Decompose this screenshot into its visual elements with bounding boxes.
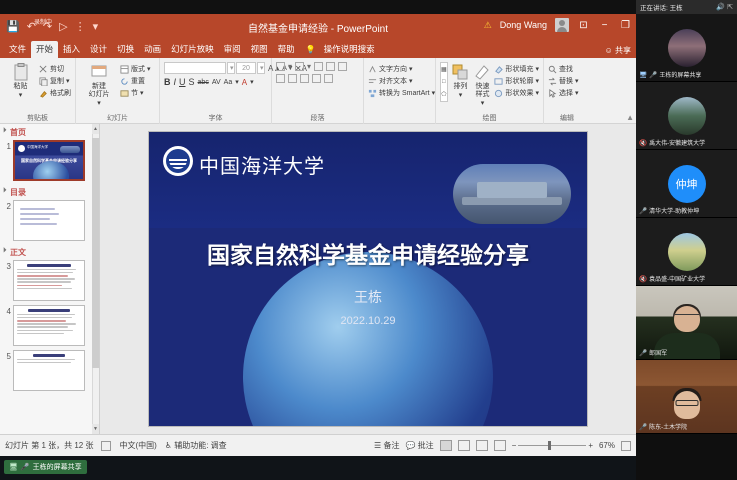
taskbar-share-label: 王栋的屏幕共享 — [33, 462, 82, 472]
text-direction-button[interactable]: 文字方向▾ — [368, 64, 435, 74]
accessibility-text: 辅助功能: 调查 — [174, 441, 226, 450]
thumbnail-number-2: 2 — [2, 200, 11, 211]
mic-muted-icon-6: 🎤 — [639, 423, 647, 431]
thumb-campus-photo — [60, 146, 80, 153]
paste-dropdown-icon[interactable]: ▾ — [19, 92, 23, 100]
increase-indent-icon[interactable] — [326, 62, 335, 71]
thumbnail-scrollbar[interactable]: ▲ ▼ — [92, 124, 99, 434]
restore-button[interactable]: ❐ — [619, 20, 632, 31]
mic-muted-icon-5: 🎤 — [639, 349, 647, 357]
thumbnail-item-3[interactable]: 3 — [0, 259, 99, 304]
video-tile-1[interactable]: 🖥 🎤 王栋的屏幕共享 — [636, 14, 737, 82]
participant-name-row-3: 🎤 清华大学-助教仲坤 — [639, 206, 699, 215]
collapse-ribbon-icon[interactable]: ▲ — [626, 113, 634, 122]
align-text-button[interactable]: 对齐文本▾ — [368, 76, 435, 86]
font-color-dropdown-icon[interactable]: ▾ — [250, 78, 254, 86]
normal-view-button[interactable] — [440, 440, 452, 451]
font-color-button[interactable]: A — [242, 78, 247, 87]
thumb-logo-icon — [18, 145, 25, 152]
collapse-panel-icon[interactable]: ⇱ — [727, 3, 733, 11]
new-slide-label: 新建 幻灯片 — [89, 83, 110, 99]
meeting-top-strip — [0, 0, 737, 14]
mic-muted-icon-4: 🔇 — [639, 275, 647, 283]
thumbnail-number-3: 3 — [2, 260, 11, 271]
speaking-indicator-bar: 正在讲话: 王栋 🔊 ⇱ — [636, 0, 737, 14]
zoom-level-label[interactable]: 67% — [599, 441, 615, 450]
slide-date[interactable]: 2022.10.29 — [149, 315, 587, 327]
tab-file[interactable]: 文件 — [4, 41, 31, 58]
group-font: ▾ 20 ▾ A▲ A▼ ✕A B I U S abc AV Aa — [160, 58, 272, 124]
video-tile-5[interactable]: 🎤 郎国军 — [636, 286, 737, 360]
group-slides: 新建 幻灯片 ▾ 版式 ▾ 重置 — [76, 58, 160, 124]
thumbnail-number-4: 4 — [2, 305, 11, 316]
scrollbar-thumb[interactable] — [92, 138, 99, 368]
arrange-label: 排列 — [453, 83, 467, 91]
thumbnail-slide-2[interactable] — [13, 200, 85, 241]
notes-button[interactable]: ☰ 备注 — [374, 440, 399, 451]
mic-muted-icon-2: 🔇 — [639, 139, 647, 147]
tab-insert[interactable]: 插入 — [58, 41, 85, 58]
slide-stage: 中国海洋大学 国家自然科学基金申请经验分享 王栋 2022.10.29 — [100, 124, 636, 434]
zoom-knob[interactable] — [548, 441, 551, 450]
align-text-icon — [368, 77, 377, 86]
thumbnail-slide-4[interactable] — [13, 305, 85, 346]
new-slide-button[interactable]: 新建 幻灯片 ▾ — [80, 62, 118, 108]
shape-effects-label: 形状效果 — [505, 88, 533, 98]
shape-textbox-icon[interactable]: ▦ — [441, 66, 447, 73]
font-name-dropdown-icon[interactable]: ▾ — [227, 62, 235, 74]
layout-label: 版式 — [131, 64, 145, 74]
copy-dropdown-icon[interactable]: ▾ — [66, 77, 70, 85]
tab-review[interactable]: 审阅 — [219, 41, 246, 58]
comments-button[interactable]: 💬 批注 — [405, 440, 433, 451]
thumbnail-item-1[interactable]: 1 中国海洋大学 国家自然科学基金申请经验分享 — [0, 139, 99, 184]
replace-button[interactable]: 替换▾ — [548, 76, 579, 86]
participant-name-row-5: 🎤 郎国军 — [639, 348, 667, 357]
decrease-indent-icon[interactable] — [314, 62, 323, 71]
participant-avatar-3: 仲坤 — [668, 165, 706, 203]
mic-muted-icon-3: 🎤 — [639, 207, 647, 215]
tab-help[interactable]: 帮助 — [273, 41, 300, 58]
thumbnail-slide-3[interactable] — [13, 260, 85, 301]
shape-gallery[interactable]: ▦ ╱ ╱ ▭ ◯ ▲ □ △ ∟ ∧ ⇒ ▼ ⬠ ✦ ⌒ — [440, 62, 448, 102]
replace-icon — [548, 77, 557, 86]
scroll-down-arrow-icon[interactable]: ▼ — [92, 424, 99, 434]
reset-icon — [120, 77, 129, 86]
slideshow-view-button[interactable] — [494, 440, 506, 451]
speaker-controls[interactable]: 🔊 ⇱ — [716, 3, 733, 11]
current-slide[interactable]: 中国海洋大学 国家自然科学基金申请经验分享 王栋 2022.10.29 — [149, 132, 587, 426]
thumb-text-lines-4 — [14, 306, 84, 337]
bullets-icon[interactable] — [276, 62, 285, 71]
align-center-icon[interactable] — [288, 74, 297, 83]
comments-label: 批注 — [418, 441, 434, 450]
video-tile-3[interactable]: 仲坤 🎤 清华大学-助教仲坤 — [636, 150, 737, 218]
language-icon[interactable] — [101, 441, 111, 451]
university-name: 中国海洋大学 — [199, 150, 325, 179]
taskbar-share-item[interactable]: 🖥 🎤 王栋的屏幕共享 — [4, 460, 87, 474]
thumb-toc-lines — [14, 201, 84, 232]
participant-name-2: 禹大伟-安徽建筑大学 — [649, 138, 705, 147]
participant-name-5: 郎国军 — [649, 348, 667, 357]
group-drawing: ▦ ╱ ╱ ▭ ◯ ▲ □ △ ∟ ∧ ⇒ ▼ ⬠ ✦ ⌒ — [436, 58, 544, 124]
layout-icon — [120, 65, 129, 74]
editing-group-label: 编辑 — [548, 113, 586, 124]
section-header-3[interactable]: 正文 — [0, 244, 99, 259]
taskbar: 🖥 🎤 王栋的屏幕共享 — [0, 456, 636, 480]
zoom-slider[interactable]: − + — [512, 441, 593, 450]
group-clipboard: 粘贴 ▾ 剪切 复制 ▾ — [0, 58, 76, 124]
participant-avatar-1 — [668, 29, 706, 67]
powerpoint-window: 💾 ↶ ↷ ▷ ⋮ ▾ 录制中 自然基金申请经验 - PowerPoint ⚠ … — [0, 14, 636, 456]
copy-button[interactable]: 复制 ▾ — [39, 76, 71, 86]
shape-line-icon[interactable]: ╱ — [447, 66, 448, 73]
participant-name-1: 王栋的屏幕共享 — [659, 70, 701, 79]
thumb-university-text: 中国海洋大学 — [27, 145, 48, 150]
tab-slideshow[interactable]: 幻灯片放映 — [166, 41, 219, 58]
shape-outline-button[interactable]: 形状轮廓▾ — [494, 76, 539, 86]
layout-button[interactable]: 版式 ▾ — [120, 64, 151, 74]
font-group-label: 字体 — [164, 113, 267, 124]
screen: 💾 ↶ ↷ ▷ ⋮ ▾ 录制中 自然基金申请经验 - PowerPoint ⚠ … — [0, 0, 737, 480]
thumb-text-lines-5 — [14, 351, 84, 366]
slides-group-label: 幻灯片 — [80, 113, 155, 124]
format-painter-label: 格式刷 — [50, 88, 71, 98]
convert-smartart-button[interactable]: 转换为 SmartArt▾ — [368, 88, 435, 98]
accessibility-label[interactable]: ♿ 辅助功能: 调查 — [165, 440, 227, 451]
scissors-icon — [39, 65, 48, 74]
arrange-button[interactable]: 排列 ▾ — [450, 62, 470, 100]
group-paragraph: ▾ ▾ 段落 — [272, 58, 364, 124]
title-bar-right: ⚠ Dong Wang ⊡ − ❐ — [484, 18, 632, 32]
participant-name-row-6: 🎤 陈东-土木学院 — [639, 422, 687, 431]
ribbon: 粘贴 ▾ 剪切 复制 ▾ — [0, 58, 636, 124]
find-label: 查找 — [559, 64, 573, 74]
participant-avatar-4 — [668, 233, 706, 271]
quick-styles-icon — [472, 62, 492, 82]
paragraph-group-label: 段落 — [276, 113, 359, 124]
clipboard-group-label: 剪贴板 — [4, 113, 71, 124]
slide-title[interactable]: 国家自然科学基金申请经验分享 — [149, 236, 587, 270]
text-direction-label: 文字方向 — [379, 64, 407, 74]
participant-name-3: 清华大学-助教仲坤 — [649, 206, 699, 215]
screen-share-icon: 🖥 — [639, 71, 647, 79]
paintbrush-icon — [39, 89, 48, 98]
campus-photo — [453, 164, 571, 224]
zoom-in-button[interactable]: + — [588, 441, 593, 450]
slide-count-label[interactable]: 幻灯片 第 1 张，共 12 张 — [5, 440, 93, 451]
underline-button[interactable]: U — [179, 77, 186, 87]
participant-avatar-2 — [668, 97, 706, 135]
quick-styles-button[interactable]: 快速样式 ▾ — [472, 62, 492, 108]
columns-icon[interactable] — [324, 74, 333, 83]
video5-glasses — [675, 314, 699, 319]
globe-graphic — [243, 252, 493, 426]
paragraph-row-1: ▾ ▾ — [276, 62, 347, 71]
arrange-dropdown-icon[interactable]: ▾ — [459, 92, 463, 100]
shape-square-icon[interactable]: □ — [442, 79, 446, 85]
slide-sorter-view-button[interactable] — [458, 440, 470, 451]
shape-effects-icon — [494, 89, 503, 98]
shape-outline-label: 形状轮廓 — [505, 76, 533, 86]
change-case-button[interactable]: Aa — [224, 79, 233, 86]
cut-button[interactable]: 剪切 — [39, 64, 71, 74]
shape-fill-button[interactable]: 形状填充▾ — [494, 64, 539, 74]
mic-icon: 🎤 — [21, 463, 30, 471]
work-area: 首页 1 中国海洋大学 国家自然科学基金申请经验分享 目录 2 — [0, 124, 636, 434]
line-spacing-icon[interactable] — [338, 62, 347, 71]
drawing-group-label: 绘图 — [440, 113, 539, 124]
fit-slide-to-window-icon[interactable] — [621, 441, 631, 451]
align-right-icon[interactable] — [300, 74, 309, 83]
thumbnail-item-4[interactable]: 4 — [0, 304, 99, 349]
thumbnail-slide-1[interactable]: 中国海洋大学 国家自然科学基金申请经验分享 — [13, 140, 85, 181]
find-button[interactable]: 查找 — [548, 64, 579, 74]
video5-face — [674, 306, 700, 332]
volume-icon[interactable]: 🔊 — [716, 3, 725, 11]
language-label[interactable]: 中文(中国) — [119, 440, 156, 451]
zoom-out-button[interactable]: − — [512, 441, 517, 450]
text-direction-icon — [368, 65, 377, 74]
thumbnail-slide-5[interactable] — [13, 350, 85, 391]
replace-label: 替换 — [559, 76, 573, 86]
shape-star-icon[interactable]: ✦ — [447, 91, 449, 98]
lightbulb-icon: 💡 — [306, 45, 316, 54]
justify-icon[interactable] — [312, 74, 321, 83]
ribbon-display-options-icon[interactable]: ⊡ — [577, 20, 590, 31]
numbering-icon[interactable] — [295, 62, 304, 71]
share-button[interactable]: ☺ 共享 — [605, 45, 631, 56]
shape-effects-button[interactable]: 形状效果▾ — [494, 88, 539, 98]
character-spacing-button[interactable]: AV — [212, 79, 221, 86]
minimize-button[interactable]: − — [598, 20, 611, 31]
italic-button[interactable]: I — [174, 77, 177, 87]
align-left-icon[interactable] — [276, 74, 285, 83]
convert-smartart-label: 转换为 SmartArt — [379, 88, 430, 98]
participant-name-row-4: 🔇 袁品盛-中国矿业大学 — [639, 274, 705, 283]
smartart-icon — [368, 89, 377, 98]
shape-fill-label: 形状填充 — [505, 64, 533, 74]
thumbnail-item-5[interactable]: 5 — [0, 349, 99, 394]
font-name-input[interactable] — [164, 62, 226, 74]
shape-outline-icon — [494, 77, 503, 86]
search-icon — [548, 65, 557, 74]
paste-icon — [11, 62, 31, 82]
participant-name-row-1: 🖥 🎤 王栋的屏幕共享 — [639, 70, 701, 79]
new-slide-icon — [89, 62, 109, 82]
warning-icon[interactable]: ⚠ — [484, 20, 492, 31]
status-bar: 幻灯片 第 1 张，共 12 张 中文(中国) ♿ 辅助功能: 调查 ☰ 备注 … — [0, 434, 636, 456]
font-size-dropdown-icon[interactable]: ▾ — [257, 62, 265, 74]
format-painter-button[interactable]: 格式刷 — [39, 88, 71, 98]
notes-label: 备注 — [383, 441, 399, 450]
video-tile-6[interactable]: 🎤 陈东-土木学院 — [636, 360, 737, 434]
new-slide-dropdown-icon[interactable]: ▾ — [97, 100, 101, 108]
participant-name-4: 袁品盛-中国矿业大学 — [649, 274, 705, 283]
font-size-input[interactable]: 20 — [236, 62, 256, 74]
section-dropdown-icon[interactable]: ▾ — [140, 89, 144, 97]
monitor-icon: 🖥 — [9, 463, 18, 471]
video-sidebar: 正在讲话: 王栋 🔊 ⇱ 🖥 🎤 王栋的屏幕共享 🔇 禹大伟-安徽建筑大学 — [636, 0, 737, 480]
paste-button[interactable]: 粘贴 ▾ — [4, 62, 37, 100]
university-logo-icon — [163, 146, 193, 176]
align-text-label: 对齐文本 — [379, 76, 407, 86]
video-tile-2[interactable]: 🔇 禹大伟-安徽建筑大学 — [636, 82, 737, 150]
bold-button[interactable]: B — [164, 77, 171, 87]
paste-label: 粘贴 — [14, 83, 28, 91]
thumbnail-item-2[interactable]: 2 — [0, 199, 99, 244]
section-header-2[interactable]: 目录 — [0, 184, 99, 199]
shape-triangle-icon[interactable]: △ — [447, 78, 449, 85]
reset-label: 重置 — [131, 76, 145, 86]
video6-glasses — [675, 400, 698, 406]
shape-pentagon-icon[interactable]: ⬠ — [441, 91, 446, 98]
cut-label: 剪切 — [50, 64, 64, 74]
group-editing: 查找 替换▾ 选择▾ 编辑 — [544, 58, 590, 124]
thumbnail-number-1: 1 — [2, 140, 11, 151]
quick-styles-dropdown-icon[interactable]: ▾ — [481, 100, 485, 108]
arrange-icon — [450, 62, 470, 82]
video-tile-4[interactable]: 🔇 袁品盛-中国矿业大学 — [636, 218, 737, 286]
tell-me-search[interactable]: 💡 操作说明搜索 — [306, 41, 380, 58]
copy-icon — [39, 77, 48, 86]
section-header-1[interactable]: 首页 — [0, 124, 99, 139]
strikethrough-button[interactable]: abc — [198, 79, 209, 86]
copy-label: 复制 — [50, 76, 64, 86]
participant-initials-3: 仲坤 — [676, 176, 698, 192]
tab-animations[interactable]: 动画 — [139, 41, 166, 58]
tab-view[interactable]: 视图 — [246, 41, 273, 58]
account-name[interactable]: Dong Wang — [500, 20, 547, 30]
paragraph-row-2 — [276, 74, 333, 83]
avatar[interactable] — [555, 18, 569, 32]
layout-dropdown-icon[interactable]: ▾ — [147, 65, 151, 73]
section-label: 节 — [131, 88, 138, 98]
section-button[interactable]: 节 ▾ — [120, 88, 151, 98]
reading-view-button[interactable] — [476, 440, 488, 451]
zoom-track[interactable] — [518, 445, 586, 446]
participant-name-row-2: 🔇 禹大伟-安徽建筑大学 — [639, 138, 705, 147]
select-label: 选择 — [559, 88, 573, 98]
select-button[interactable]: 选择▾ — [548, 88, 579, 98]
thumb-globe-graphic — [33, 161, 69, 181]
shape-fill-icon — [494, 65, 503, 74]
group-paragraph-extra: 文字方向▾ 对齐文本▾ 转换为 SmartArt▾ . — [364, 58, 436, 124]
scroll-up-arrow-icon[interactable]: ▲ — [92, 124, 99, 134]
cursor-select-icon — [548, 89, 557, 98]
reset-button[interactable]: 重置 — [120, 76, 151, 86]
tab-design[interactable]: 设计 — [85, 41, 112, 58]
thumb-text-lines-3 — [14, 261, 84, 292]
slide-author[interactable]: 王栋 — [149, 287, 587, 307]
speaking-label: 正在讲话: 王栋 — [640, 2, 683, 12]
slide-thumbnail-pane[interactable]: 首页 1 中国海洋大学 国家自然科学基金申请经验分享 目录 2 — [0, 124, 100, 434]
thumbnail-number-5: 5 — [2, 350, 11, 361]
mic-active-icon: 🎤 — [649, 71, 657, 79]
tab-transitions[interactable]: 切换 — [112, 41, 139, 58]
share-label: 共享 — [615, 46, 631, 55]
title-bar: 💾 ↶ ↷ ▷ ⋮ ▾ 录制中 自然基金申请经验 - PowerPoint ⚠ … — [0, 14, 636, 40]
quick-styles-label: 快速样式 — [472, 83, 492, 99]
tab-home[interactable]: 开始 — [31, 41, 58, 58]
ribbon-tabs: 文件 开始 插入 设计 切换 动画 幻灯片放映 审阅 视图 帮助 💡 操作说明搜… — [0, 40, 636, 58]
section-icon — [120, 89, 129, 98]
participant-name-6: 陈东-土木学院 — [649, 422, 687, 431]
tell-me-label: 操作说明搜索 — [319, 41, 380, 58]
text-shadow-button[interactable]: S — [189, 77, 195, 87]
